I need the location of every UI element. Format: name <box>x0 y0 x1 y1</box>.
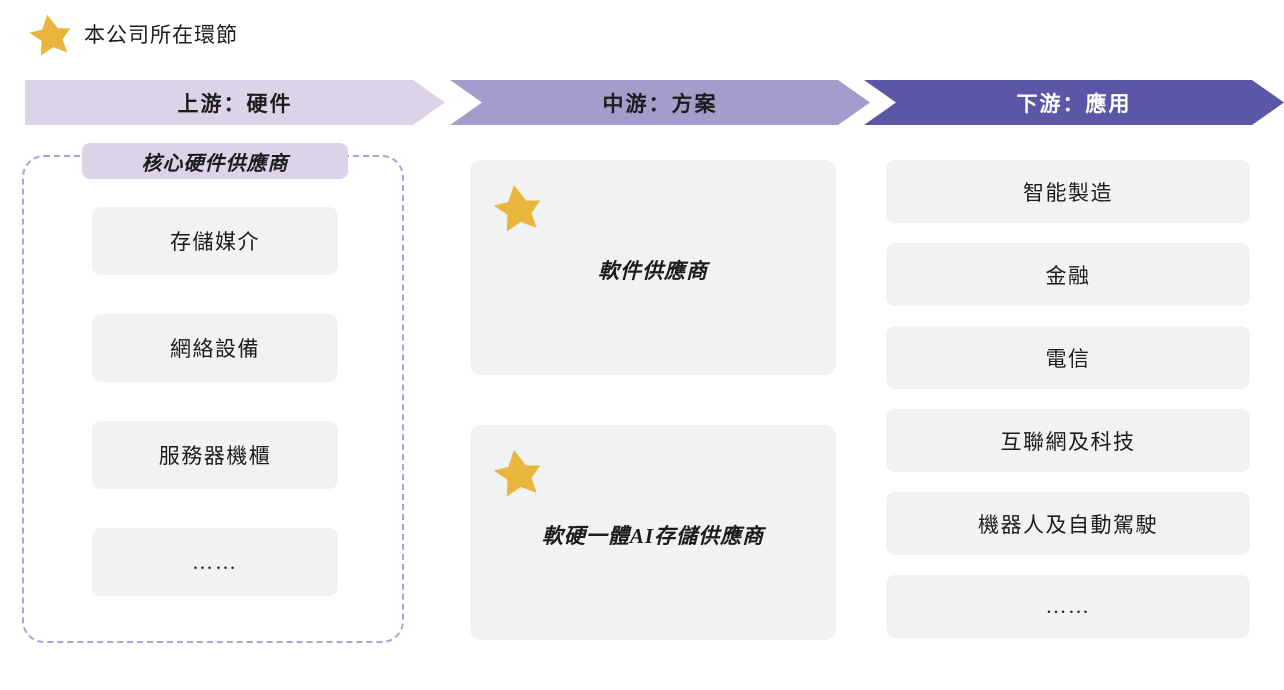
downstream-column: 智能製造 金融 電信 互聯網及科技 機器人及自動駕駛 …… <box>886 160 1250 658</box>
downstream-item-label: 電信 <box>1046 343 1091 373</box>
downstream-item-label: 互聯網及科技 <box>1001 426 1136 456</box>
legend-label: 本公司所在環節 <box>84 19 238 49</box>
list-item[interactable]: 智能製造 <box>886 160 1250 223</box>
list-item[interactable]: 金融 <box>886 243 1250 306</box>
stage-header-row: 上游：硬件 中游：方案 下游：應用 <box>0 80 1284 125</box>
legend: 本公司所在環節 <box>26 12 238 56</box>
downstream-item-label: 機器人及自動駕駛 <box>978 509 1158 539</box>
midstream-column: 軟件供應商 軟硬一體AI存儲供應商 <box>470 160 836 690</box>
list-item[interactable]: 機器人及自動駕駛 <box>886 492 1250 555</box>
midstream-card-label: 軟硬一體AI存儲供應商 <box>470 520 836 550</box>
list-item[interactable]: 服務器機櫃 <box>92 421 338 489</box>
upstream-item-label: 服務器機櫃 <box>159 440 272 470</box>
stage-header-midstream: 中游：方案 <box>450 80 870 125</box>
list-item[interactable]: …… <box>886 575 1250 638</box>
midstream-card[interactable]: 軟硬一體AI存儲供應商 <box>470 425 836 640</box>
list-item[interactable]: 網絡設備 <box>92 314 338 382</box>
downstream-item-label: 金融 <box>1046 260 1091 290</box>
upstream-item-label: 網絡設備 <box>170 333 260 363</box>
stage-header-upstream: 上游：硬件 <box>25 80 445 125</box>
star-icon <box>26 12 72 56</box>
star-icon <box>490 182 542 232</box>
downstream-item-label: 智能製造 <box>1023 177 1113 207</box>
upstream-group-label: 核心硬件供應商 <box>82 143 348 179</box>
list-item[interactable]: 互聯網及科技 <box>886 409 1250 472</box>
midstream-card[interactable]: 軟件供應商 <box>470 160 836 375</box>
midstream-card-label: 軟件供應商 <box>470 255 836 285</box>
stage-header-upstream-label: 上游：硬件 <box>178 88 293 118</box>
stage-header-downstream: 下游：應用 <box>864 80 1284 125</box>
list-item[interactable]: …… <box>92 528 338 596</box>
downstream-item-label: …… <box>1046 594 1091 619</box>
upstream-column: 核心硬件供應商 存儲媒介 網絡設備 服務器機櫃 …… <box>22 155 404 643</box>
list-item[interactable]: 電信 <box>886 326 1250 389</box>
list-item[interactable]: 存儲媒介 <box>92 207 338 275</box>
upstream-item-label: …… <box>192 550 238 575</box>
upstream-group-label-text: 核心硬件供應商 <box>142 147 289 176</box>
upstream-item-label: 存儲媒介 <box>170 226 260 256</box>
stage-header-downstream-label: 下游：應用 <box>1017 88 1132 118</box>
stage-header-midstream-label: 中游：方案 <box>603 88 718 118</box>
star-icon <box>490 447 542 497</box>
upstream-item-list: 存儲媒介 網絡設備 服務器機櫃 …… <box>92 207 338 635</box>
